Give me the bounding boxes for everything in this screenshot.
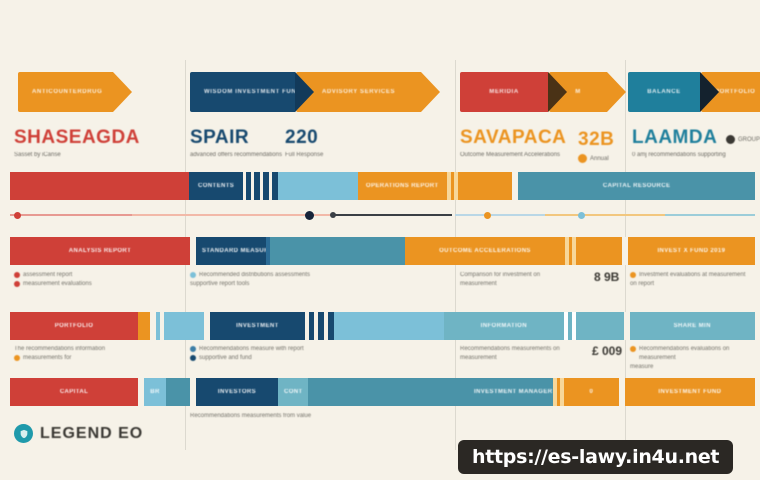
bar-segment[interactable]: INVESTMENT — [210, 312, 305, 340]
heading-title: SAVAPACA — [460, 128, 566, 147]
caption-text: supportive and fund — [199, 354, 252, 363]
caption-line: Recommended distributions assessments — [190, 271, 310, 280]
caption-col4-row2: Investment evaluations at measurementon … — [630, 271, 745, 289]
arrow-banner-3[interactable]: ADVISORY SERVICES — [296, 72, 421, 112]
arrow-notch-icon — [548, 72, 567, 112]
caption-line: measurement — [460, 354, 560, 363]
bar-segment-label: OPERATIONS REPORT — [360, 183, 445, 189]
bar-segment-label: INVESTMENT — [230, 323, 285, 329]
shield-icon — [14, 424, 33, 443]
bar-segment[interactable]: INVESTMENT FUND — [625, 378, 755, 406]
caption-col3-row3: Recommendations measurements onmeasureme… — [460, 345, 560, 363]
metric-caption: Full Response — [285, 152, 323, 158]
metric-caption: GROUP — [738, 137, 760, 143]
bar-row-3: PORTFOLIOINVESTMENTINFORMATIONSHARE MIN — [10, 312, 755, 340]
caption-line: Comparison for investment on — [460, 271, 540, 280]
metric-caption: Annual — [590, 156, 609, 162]
progress-knob[interactable] — [578, 212, 585, 219]
arrow-banner-7[interactable]: PORTFOLIO — [701, 72, 760, 112]
bar-segment[interactable]: OPERATIONS REPORT — [358, 172, 447, 200]
caption-col4-row3: Recommendations evaluations on measureme… — [630, 345, 760, 372]
caption-text: Investment evaluations at measurement — [639, 271, 745, 280]
bar-segment[interactable] — [576, 237, 622, 265]
bar-segment-label: PORTFOLIO — [49, 323, 100, 329]
caption-col2-row2: Recommended distributions assessmentssup… — [190, 271, 310, 289]
bar-segment[interactable]: BR — [144, 378, 166, 406]
caption-text: Comparison for investment on — [460, 271, 540, 280]
heading-title: SPAIR — [190, 128, 282, 147]
bar-segment[interactable]: STANDARD MEASURE — [196, 237, 266, 265]
metric-value: 32B — [578, 130, 614, 149]
bar-segment[interactable] — [580, 312, 624, 340]
value-row3-col3: £ 009 — [592, 344, 622, 358]
caption-bullet-icon — [630, 346, 636, 352]
bar-segment[interactable]: CAPITAL RESOURCE — [518, 172, 754, 200]
bar-segment[interactable]: ANALYSIS REPORT — [10, 237, 190, 265]
caption-line: supportive and fund — [190, 354, 304, 363]
arrow-banner-label: BALANCE — [628, 89, 700, 95]
caption-text: Recommendations measurements on — [460, 345, 560, 354]
caption-bullet-icon — [190, 272, 196, 278]
caption-text: Recommended distributions assessments — [199, 271, 310, 280]
bar-segment[interactable] — [458, 172, 513, 200]
bar-row-1: CONTENTSOPERATIONS REPORTCAPITAL RESOURC… — [10, 172, 755, 200]
arrow-banner-label: ADVISORY SERVICES — [296, 89, 421, 95]
caption-text: on report — [630, 280, 654, 289]
legend-badge[interactable]: LEGEND EO — [14, 424, 143, 443]
caption-line: The recommendations information — [14, 345, 105, 354]
bar-segment[interactable] — [308, 378, 468, 406]
bar-segment-label: CONTENTS — [192, 183, 240, 189]
metric-caption-row: Annual — [578, 154, 614, 163]
caption-text: supportive report tools — [190, 280, 249, 289]
arrow-banner-5[interactable]: M — [549, 72, 607, 112]
arrow-tip-icon — [607, 72, 626, 112]
bar-segment[interactable]: CAPITAL — [10, 378, 138, 406]
bar-segment-label: INVEST X FUND 2019 — [651, 248, 731, 254]
caption-text: measurements for — [23, 354, 71, 363]
arrow-banner-1[interactable]: ANTICOUNTERDRUG — [18, 72, 113, 112]
bar-segment-label: INFORMATION — [475, 323, 533, 329]
heading-title: SHASEAGDA — [14, 128, 140, 147]
caption-col2-row4: Recommendations measurements from value — [190, 412, 311, 421]
bar-segment[interactable]: CONT — [278, 378, 308, 406]
bar-segment[interactable] — [270, 237, 405, 265]
bar-segment[interactable]: INVESTMENT MANAGERS — [468, 378, 553, 406]
arrow-notch-icon — [295, 72, 314, 112]
caption-line: measure — [630, 363, 760, 372]
bar-segment-label: BR — [144, 389, 165, 395]
value-row2-col3: 8 9B — [594, 270, 619, 284]
bar-segment-label: INVESTORS — [212, 389, 262, 395]
caption-line: Recommendations measurements from value — [190, 412, 311, 421]
bar-segment-label: SHARE MIN — [668, 323, 717, 329]
arrow-banner-2[interactable]: WISDOM INVESTMENT FUND — [190, 72, 295, 112]
bar-segment[interactable]: INFORMATION — [444, 312, 564, 340]
progress-track-segment[interactable] — [665, 214, 755, 216]
watermark: https://es-lawy.in4u.net — [458, 440, 733, 474]
bar-row-2: ANALYSIS REPORTSTANDARD MEASUREOUTCOME A… — [10, 237, 755, 265]
metric-220: 220Full Response — [285, 128, 323, 158]
caption-line: assessment report — [14, 271, 92, 280]
arrow-banner-label: WISDOM INVESTMENT FUND — [190, 89, 295, 95]
caption-text: measurement — [460, 280, 497, 289]
arrow-notch-icon — [700, 72, 719, 112]
progress-track-segment[interactable] — [332, 214, 452, 216]
metric-bullet-icon — [726, 135, 735, 144]
bar-segment-label: CAPITAL RESOURCE — [597, 183, 677, 189]
caption-bullet-icon — [14, 281, 20, 287]
bar-segment[interactable] — [138, 312, 150, 340]
metric-32: 32BAnnual — [578, 130, 614, 163]
caption-col2-row3: Recommendations measure with reportsuppo… — [190, 345, 304, 363]
caption-bullet-icon — [14, 272, 20, 278]
watermark-url: https://es-lawy.in4u.net — [472, 446, 719, 468]
caption-text: The recommendations information — [14, 345, 105, 354]
bar-segment[interactable] — [166, 378, 190, 406]
progress-track-segment[interactable] — [132, 214, 332, 216]
heading-subtitle: advanced offers recommendations — [190, 151, 282, 160]
bar-row-4: CAPITALBRINVESTORSCONTINVESTMENT MANAGER… — [10, 378, 755, 406]
metric-group: GROUP — [726, 130, 760, 144]
heading-subtitle: Outcome Measurement Accelerations — [460, 151, 566, 160]
arrow-tip-icon — [421, 72, 440, 112]
bar-segment-label: OUTCOME ACCELERATIONS — [433, 248, 537, 254]
metric-caption-row: GROUP — [726, 135, 760, 144]
bar-segment-label: INVESTMENT FUND — [652, 389, 727, 395]
caption-line: supportive report tools — [190, 280, 310, 289]
bar-segment[interactable]: INVEST X FUND 2019 — [628, 237, 755, 265]
caption-col1-row3: The recommendations informationmeasureme… — [14, 345, 105, 363]
caption-line: on report — [630, 280, 745, 289]
arrow-banner-4[interactable]: MERIDIA — [460, 72, 548, 112]
bar-segment-label: STANDARD MEASURE — [196, 248, 266, 254]
metric-caption-row: Full Response — [285, 152, 323, 158]
bar-segment-label: ANALYSIS REPORT — [63, 248, 137, 254]
caption-line: measurement — [460, 280, 540, 289]
caption-text: measure — [630, 363, 653, 372]
metric-value: 220 — [285, 128, 323, 147]
heading-subtitle: 0 amj recommendations supporting — [632, 151, 726, 160]
progress-knob[interactable] — [330, 212, 336, 218]
bar-segment-label: CONT — [278, 389, 308, 395]
caption-col3-row2: Comparison for investment onmeasurement — [460, 271, 540, 289]
caption-text: Recommendations evaluations on measureme… — [639, 345, 760, 363]
arrow-tip-icon — [113, 72, 132, 112]
progress-track-segment[interactable] — [455, 214, 545, 216]
arrow-banner-label: ANTICOUNTERDRUG — [18, 89, 113, 95]
caption-text: measurement evaluations — [23, 280, 92, 289]
progress-track-segment[interactable] — [545, 214, 665, 216]
arrow-banner-label: MERIDIA — [460, 89, 548, 95]
heading-savanna: SAVAPACAOutcome Measurement Acceleration… — [460, 128, 566, 160]
metric-bullet-icon — [578, 154, 587, 163]
bar-segment-label: 0 — [584, 389, 600, 395]
caption-text: assessment report — [23, 271, 72, 280]
bar-segment[interactable]: SHARE MIN — [630, 312, 755, 340]
caption-line: Recommendations evaluations on measureme… — [630, 345, 760, 363]
caption-text: Recommendations measurements from value — [190, 412, 311, 421]
caption-bullet-icon — [630, 272, 636, 278]
heading-subtitle: Sasset by iCanse — [14, 151, 140, 160]
caption-line: measurements for — [14, 354, 105, 363]
bar-segment[interactable] — [164, 312, 204, 340]
caption-col1-row2: assessment reportmeasurement evaluations — [14, 271, 92, 289]
caption-line: measurement evaluations — [14, 280, 92, 289]
bar-segment[interactable] — [334, 312, 444, 340]
bar-segment[interactable] — [10, 172, 189, 200]
bar-segment[interactable]: PORTFOLIO — [10, 312, 138, 340]
caption-bullet-icon — [190, 346, 196, 352]
progress-knob[interactable] — [14, 212, 21, 219]
arrow-banner-6[interactable]: BALANCE — [628, 72, 700, 112]
caption-text: Recommendations measure with report — [199, 345, 304, 354]
caption-line: Recommendations measure with report — [190, 345, 304, 354]
bar-segment[interactable]: INVESTORS — [196, 378, 278, 406]
bar-segment[interactable] — [278, 172, 357, 200]
bar-segment[interactable]: CONTENTS — [189, 172, 244, 200]
caption-bullet-icon — [190, 355, 196, 361]
heading-spartan: SHASEAGDASasset by iCanse — [14, 128, 140, 160]
caption-text: measurement — [460, 354, 497, 363]
caption-line: Recommendations measurements on — [460, 345, 560, 354]
bar-segment[interactable]: OUTCOME ACCELERATIONS — [405, 237, 565, 265]
progress-knob[interactable] — [305, 211, 314, 220]
bar-segment-label: CAPITAL — [54, 389, 94, 395]
progress-knob[interactable] — [484, 212, 491, 219]
legend-label: LEGEND EO — [40, 425, 143, 443]
caption-bullet-icon — [14, 355, 20, 361]
heading-lambda: LAAMDA0 amj recommendations supporting — [632, 128, 726, 160]
bar-segment[interactable]: 0 — [564, 378, 619, 406]
heading-title: LAAMDA — [632, 128, 726, 147]
heading-spair: SPAIRadvanced offers recommendations — [190, 128, 282, 160]
bar-segment-label: INVESTMENT MANAGERS — [468, 389, 553, 395]
caption-line: Investment evaluations at measurement — [630, 271, 745, 280]
